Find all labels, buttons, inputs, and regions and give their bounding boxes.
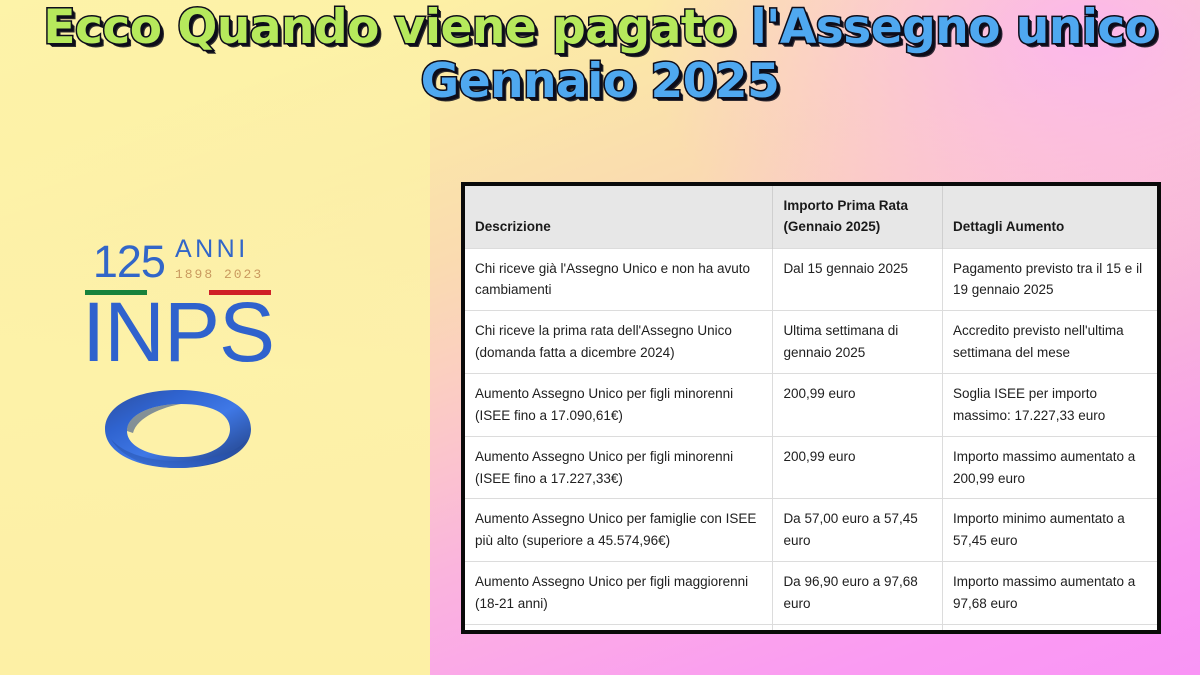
cell-importo: Da 96,90 euro a 97,68 euro	[773, 562, 943, 625]
cell-dettagli: Importo massimo aumentato a 97,68 euro	[942, 562, 1157, 625]
logo-anni-label: ANNI	[175, 237, 263, 262]
logo-number-125: 125	[93, 239, 165, 284]
table-row: Chi riceve la prima rata dell'Assegno Un…	[465, 311, 1157, 374]
assegno-unico-table: Descrizione Importo Prima Rata (Gennaio …	[461, 182, 1161, 634]
cell-descrizione: Chi riceve la prima rata dell'Assegno Un…	[465, 311, 773, 374]
logo-anniversary-row: 125 ANNI 1898 2023	[78, 236, 278, 284]
table-row: Aumento Assegno Unico per figli minorenn…	[465, 436, 1157, 499]
logo-acronym: INPS	[78, 293, 278, 373]
cell-importo: 120,56 euro	[773, 624, 943, 634]
cell-dettagli: Importo minimo aumentato a 57,45 euro	[942, 499, 1157, 562]
title-line-1: Ecco Quando viene pagato l'Assegno unico	[0, 6, 1200, 50]
cell-descrizione: Chi riceve già l'Assegno Unico e non ha …	[465, 248, 773, 311]
cell-descrizione: Aumento Assegno Unico per figli maggiore…	[465, 562, 773, 625]
inps-ring-icon	[103, 387, 253, 471]
column-header-dettagli: Dettagli Aumento	[942, 186, 1157, 248]
cell-dettagli: Pagamento previsto tra il 15 e il 19 gen…	[942, 248, 1157, 311]
cell-dettagli: Soglia ISEE per importo massimo: 17.227,…	[942, 373, 1157, 436]
cell-importo: Da 57,00 euro a 57,45 euro	[773, 499, 943, 562]
table-header-row: Descrizione Importo Prima Rata (Gennaio …	[465, 186, 1157, 248]
table-body: Chi riceve già l'Assegno Unico e non ha …	[465, 248, 1157, 634]
table-row: Aumento Assegno Unico per figli minorenn…	[465, 373, 1157, 436]
column-header-descrizione-line1: Descrizione	[475, 219, 551, 234]
logo-years-label: 1898 2023	[175, 265, 263, 285]
title-line-2: Gennaio 2025	[0, 60, 1200, 104]
cell-descrizione: Aumento Assegno Unico per figli con disa…	[465, 624, 773, 634]
table-row: Chi riceve già l'Assegno Unico e non ha …	[465, 248, 1157, 311]
cell-dettagli: Accredito previsto nell'ultima settimana…	[942, 311, 1157, 374]
logo-anni-column: ANNI 1898 2023	[175, 237, 263, 285]
cell-importo: Ultima settimana di gennaio 2025	[773, 311, 943, 374]
page-title: Ecco Quando viene pagato l'Assegno unico…	[0, 6, 1200, 104]
table: Descrizione Importo Prima Rata (Gennaio …	[465, 186, 1157, 634]
cell-importo: 200,99 euro	[773, 436, 943, 499]
table-head: Descrizione Importo Prima Rata (Gennaio …	[465, 186, 1157, 248]
column-header-dettagli-line1: Dettagli Aumento	[953, 219, 1064, 234]
table-row: Aumento Assegno Unico per figli maggiore…	[465, 562, 1157, 625]
column-header-descrizione: Descrizione	[465, 186, 773, 248]
table-row: Aumento Assegno Unico per famiglie con I…	[465, 499, 1157, 562]
table-row: Aumento Assegno Unico per figli con disa…	[465, 624, 1157, 634]
column-header-importo: Importo Prima Rata (Gennaio 2025)	[773, 186, 943, 248]
cell-importo: 200,99 euro	[773, 373, 943, 436]
cell-importo: Dal 15 gennaio 2025	[773, 248, 943, 311]
cell-descrizione: Aumento Assegno Unico per famiglie con I…	[465, 499, 773, 562]
title-green-part: Ecco Quando viene pagato	[43, 0, 750, 55]
cell-dettagli: Importo massimo aumentato a 200,99 euro	[942, 436, 1157, 499]
column-header-importo-line2: (Gennaio 2025)	[783, 217, 932, 238]
cell-descrizione: Aumento Assegno Unico per figli minorenn…	[465, 373, 773, 436]
cell-descrizione: Aumento Assegno Unico per figli minorenn…	[465, 436, 773, 499]
cell-dettagli: Aumento da 119,60 euro a 120,56 euro	[942, 624, 1157, 634]
column-header-importo-line1: Importo Prima Rata	[783, 196, 932, 217]
title-blue-part: l'Assegno unico	[750, 0, 1156, 55]
inps-logo: 125 ANNI 1898 2023 INPS	[78, 236, 278, 476]
